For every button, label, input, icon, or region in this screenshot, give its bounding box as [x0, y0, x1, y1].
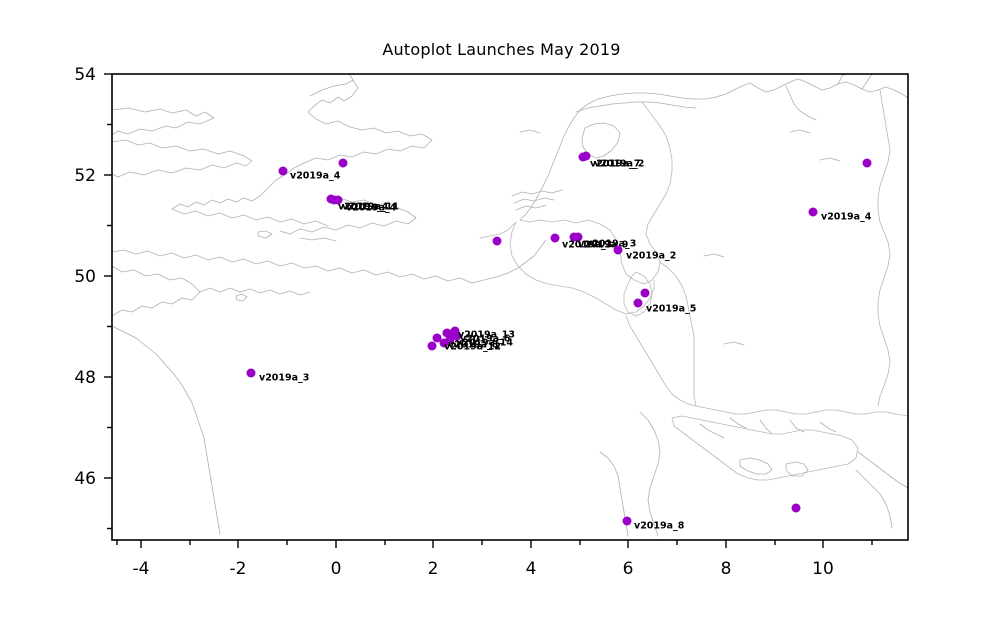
x-tick-label: 2 — [428, 559, 439, 579]
border-belgium-france — [480, 222, 516, 238]
data-point-label: v2019a_4 — [290, 171, 341, 182]
data-point-label: v2019a_4 — [821, 212, 872, 223]
coastline-wales-west — [112, 140, 252, 177]
data-point-label: v2019a_5 — [646, 304, 696, 315]
data-point-marker[interactable] — [863, 159, 872, 168]
data-point-label: v2019a_4 — [346, 203, 397, 214]
plot-frame — [112, 74, 908, 540]
coastline-wadden-islands — [576, 102, 696, 112]
data-point-label: v2019a_8 — [634, 521, 685, 532]
border-germany-east — [878, 90, 890, 406]
data-point-label: v2019a_3 — [259, 373, 309, 384]
data-point-label: v2019a_2 — [594, 159, 644, 170]
data-point-label: v2019a_2 — [626, 251, 676, 262]
coastline-great-britain — [112, 108, 214, 135]
data-point-marker[interactable] — [634, 299, 643, 308]
data-point-marker[interactable] — [428, 342, 437, 351]
data-point-marker[interactable] — [809, 208, 818, 217]
map-geography: v2019a_4 v2019a_4 v2019a_11 v2019a_4 v20… — [112, 74, 908, 536]
map-plot[interactable]: v2019a_4 v2019a_4 v2019a_11 v2019a_4 v20… — [0, 0, 1003, 633]
data-point-marker[interactable] — [614, 246, 623, 255]
coastline-germany-north — [750, 79, 908, 98]
coastline-isle-wight — [258, 231, 272, 238]
x-tick-label: -2 — [230, 559, 247, 579]
coastline-netherlands — [520, 83, 750, 220]
data-point-marker[interactable] — [623, 517, 632, 526]
data-point-marker[interactable] — [279, 167, 288, 176]
coastline-alpine-valleys — [700, 418, 836, 438]
x-axis-ticks — [117, 540, 872, 548]
data-points-layer[interactable]: v2019a_4 v2019a_4 v2019a_11 v2019a_4 v20… — [247, 152, 872, 532]
coastline-france-north — [112, 240, 546, 283]
y-axis-ticks — [104, 74, 112, 529]
coastline-italy-north — [856, 452, 908, 528]
coastline-brittany — [112, 266, 200, 316]
data-point-marker[interactable] — [247, 369, 256, 378]
y-tick-label: 48 — [74, 368, 96, 388]
border-germany-south — [696, 406, 908, 416]
figure-canvas: Autoplot Launches May 2019 — [0, 0, 1003, 633]
x-tick-label: 4 — [526, 559, 537, 579]
data-point-marker[interactable] — [551, 234, 560, 243]
coastline-zeeland — [512, 190, 562, 210]
coastline-alps-lakes — [740, 458, 808, 476]
border-switzerland — [672, 416, 858, 480]
y-tick-label: 46 — [74, 469, 96, 489]
coastline-atlantic-west — [112, 326, 220, 534]
data-point-marker[interactable] — [641, 289, 650, 298]
coastline-jura-rhone — [640, 412, 660, 536]
x-tick-label: -4 — [133, 559, 150, 579]
coastline-elbe-estuary — [786, 86, 816, 120]
data-point-marker[interactable] — [493, 237, 502, 246]
data-point-marker[interactable] — [792, 504, 801, 513]
coastline-jutland — [838, 74, 872, 89]
y-tick-label: 52 — [74, 166, 96, 186]
y-tick-label: 50 — [74, 267, 96, 287]
x-tick-label: 10 — [812, 559, 834, 579]
coastline-normandy-bay — [200, 288, 310, 295]
coastline-channel-isles — [236, 294, 247, 301]
x-tick-label: 6 — [623, 559, 634, 579]
data-point-label: v2019a_3 — [586, 239, 636, 250]
x-tick-label: 8 — [721, 559, 732, 579]
x-tick-label: 0 — [331, 559, 342, 579]
data-point-label: v2019a_8 — [448, 340, 499, 351]
y-tick-label: 54 — [74, 65, 96, 85]
coastline-england-east — [172, 74, 432, 209]
border-france-germany — [626, 316, 696, 406]
data-point-marker[interactable] — [339, 159, 348, 168]
coastline-south-england — [172, 209, 328, 226]
